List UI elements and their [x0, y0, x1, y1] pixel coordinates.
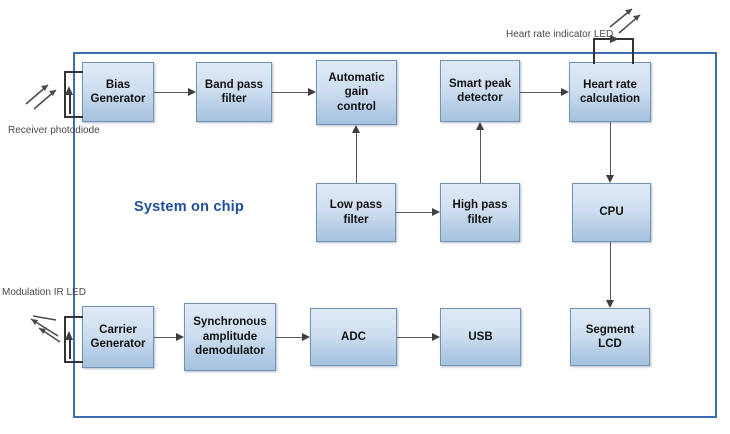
- block-synchronous-amplitude-demodulator-line3: demodulator: [193, 344, 266, 358]
- block-bias-generator[interactable]: Bias Generator: [82, 62, 154, 122]
- photodiode-terminal-top-bar: [64, 71, 83, 73]
- arrowhead-bias-to-bandpass-icon: [188, 88, 196, 96]
- label-modulation-ir-led: Modulation IR LED: [2, 286, 74, 299]
- block-usb-line1: USB: [468, 330, 492, 344]
- block-segment-lcd-line1: Segment: [586, 323, 635, 337]
- arrowhead-cpu-to-segmentlcd-icon: [606, 300, 614, 308]
- irled-terminal-bottom-bar: [64, 361, 83, 363]
- ir-led-emission-rays-icon: [22, 312, 64, 350]
- block-smart-peak-detector-line2: detector: [449, 91, 511, 105]
- block-low-pass-filter-line1: Low pass: [330, 198, 382, 212]
- arrowhead-heartrate-to-cpu-icon: [606, 175, 614, 183]
- block-segment-lcd-line2: LCD: [586, 337, 635, 351]
- block-heart-rate-calculation-line1: Heart rate: [580, 78, 640, 92]
- arrowhead-carrier-to-demodulator-icon: [176, 333, 184, 341]
- block-carrier-generator-line1: Carrier: [91, 323, 146, 337]
- block-carrier-generator-line2: Generator: [91, 337, 146, 351]
- block-cpu[interactable]: CPU: [572, 183, 651, 242]
- block-automatic-gain-control[interactable]: Automatic gain control: [316, 60, 397, 125]
- irled-arrow-stem: [69, 339, 71, 359]
- block-usb[interactable]: USB: [440, 308, 521, 366]
- photodiode-arrow-stem: [69, 94, 71, 114]
- connector-lowpass-to-agc: [356, 133, 357, 183]
- block-synchronous-amplitude-demodulator[interactable]: Synchronous amplitude demodulator: [184, 303, 276, 371]
- receiver-light-rays-icon: [22, 78, 62, 112]
- block-bias-generator-line1: Bias: [91, 78, 146, 92]
- irled-terminal-top-bar: [64, 316, 83, 318]
- label-heart-rate-indicator-led-line2: indicator LED: [553, 29, 613, 40]
- block-band-pass-filter[interactable]: Band pass filter: [196, 62, 272, 122]
- connector-bias-to-bandpass: [154, 92, 188, 93]
- connector-highpass-to-peakdetector: [480, 130, 481, 183]
- arrowhead-lowpass-to-highpass-icon: [432, 208, 440, 216]
- block-heart-rate-calculation-line2: calculation: [580, 92, 640, 106]
- block-low-pass-filter[interactable]: Low pass filter: [316, 183, 396, 242]
- block-automatic-gain-control-line2: gain: [328, 85, 384, 99]
- block-carrier-generator[interactable]: Carrier Generator: [82, 306, 154, 368]
- block-band-pass-filter-line2: filter: [205, 92, 263, 106]
- label-receiver-photodiode-line1: Receiver: [8, 125, 47, 136]
- arrowhead-adc-to-usb-icon: [432, 333, 440, 341]
- photodiode-terminal-bottom-bar: [64, 116, 83, 118]
- connector-demodulator-to-adc: [276, 337, 302, 338]
- connector-heartrate-to-cpu: [610, 122, 611, 175]
- block-band-pass-filter-line1: Band pass: [205, 78, 263, 92]
- arrowhead-highpass-to-peakdetector-icon: [476, 122, 484, 130]
- connector-lowpass-to-highpass: [396, 212, 432, 213]
- label-receiver-photodiode-line2: photodiode: [50, 125, 100, 136]
- block-synchronous-amplitude-demodulator-line1: Synchronous: [193, 315, 266, 329]
- label-heart-rate-indicator-led-line1: Heart rate: [506, 29, 550, 40]
- connector-carrier-to-demodulator: [154, 337, 176, 338]
- block-heart-rate-calculation[interactable]: Heart rate calculation: [569, 62, 651, 122]
- block-smart-peak-detector[interactable]: Smart peak detector: [440, 60, 520, 122]
- block-diagram-canvas: System on chip Bias Generator Band pass …: [0, 0, 730, 434]
- block-low-pass-filter-line2: filter: [330, 213, 382, 227]
- block-high-pass-filter-line2: filter: [453, 213, 508, 227]
- system-on-chip-label: System on chip: [134, 199, 244, 215]
- arrowhead-demodulator-to-adc-icon: [302, 333, 310, 341]
- block-automatic-gain-control-line1: Automatic: [328, 71, 384, 85]
- block-adc[interactable]: ADC: [310, 308, 397, 366]
- block-high-pass-filter[interactable]: High pass filter: [440, 183, 520, 242]
- block-high-pass-filter-line1: High pass: [453, 198, 508, 212]
- block-automatic-gain-control-line3: control: [328, 100, 384, 114]
- block-synchronous-amplitude-demodulator-line2: amplitude: [193, 330, 266, 344]
- photodiode-arrowhead-icon: [65, 86, 73, 95]
- block-cpu-line1: CPU: [599, 205, 623, 219]
- connector-cpu-to-segmentlcd: [610, 242, 611, 300]
- arrowhead-bandpass-to-agc-icon: [308, 88, 316, 96]
- label-heart-rate-indicator-led: Heart rate indicator LED: [506, 28, 590, 41]
- hrled-terminal-right-bar: [632, 38, 634, 64]
- label-modulation-ir-led-line1: Modulation IR: [2, 287, 64, 298]
- label-modulation-ir-led-line2: LED: [66, 287, 85, 298]
- connector-bandpass-to-agc: [272, 92, 308, 93]
- hrled-terminal-left-bar: [593, 38, 595, 64]
- arrowhead-lowpass-to-agc-icon: [352, 125, 360, 133]
- connector-adc-to-usb: [397, 337, 432, 338]
- block-adc-line1: ADC: [341, 330, 366, 344]
- block-segment-lcd[interactable]: Segment LCD: [570, 308, 650, 366]
- label-receiver-photodiode: Receiver photodiode: [8, 124, 68, 137]
- block-smart-peak-detector-line1: Smart peak: [449, 77, 511, 91]
- arrowhead-peakdetector-to-heartrate-icon: [561, 88, 569, 96]
- irled-arrowhead-icon: [65, 331, 73, 340]
- connector-peakdetector-to-heartrate: [520, 92, 561, 93]
- block-bias-generator-line2: Generator: [91, 92, 146, 106]
